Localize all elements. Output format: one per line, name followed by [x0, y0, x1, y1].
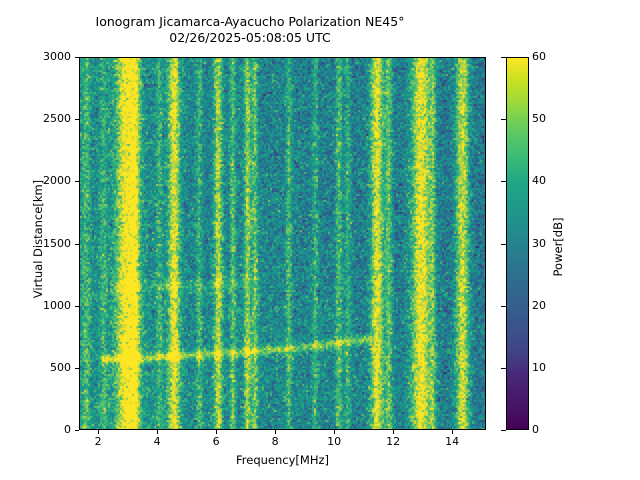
- x-tick-label: 8: [255, 435, 295, 448]
- colorbar-tick-label: 0: [532, 423, 539, 436]
- colorbar-tick-label: 10: [532, 361, 546, 374]
- ionogram-figure: Ionogram Jicamarca-Ayacucho Polarization…: [0, 0, 640, 480]
- colorbar-tick-mark: [501, 181, 506, 182]
- y-tick-mark: [75, 181, 79, 182]
- colorbar-tick-mark: [501, 244, 506, 245]
- x-tick-mark: [334, 430, 335, 434]
- x-tick-label: 12: [373, 435, 413, 448]
- y-tick-mark: [75, 430, 79, 431]
- ionogram-heatmap-canvas: [80, 58, 485, 429]
- y-tick-mark: [75, 57, 79, 58]
- colorbar-tick-label: 20: [532, 299, 546, 312]
- y-tick-mark: [75, 368, 79, 369]
- colorbar-tick-mark: [501, 57, 506, 58]
- y-tick-label: 500: [27, 361, 71, 374]
- y-axis-label: Virtual Distance[km]: [31, 119, 45, 359]
- x-tick-mark: [275, 430, 276, 434]
- x-tick-mark: [98, 430, 99, 434]
- x-tick-mark: [452, 430, 453, 434]
- x-tick-label: 2: [78, 435, 118, 448]
- colorbar-tick-mark: [501, 306, 506, 307]
- y-tick-mark: [75, 119, 79, 120]
- x-tick-mark: [393, 430, 394, 434]
- x-tick-label: 14: [432, 435, 472, 448]
- x-tick-label: 10: [314, 435, 354, 448]
- figure-title: Ionogram Jicamarca-Ayacucho Polarization…: [0, 14, 500, 46]
- colorbar-tick-mark: [501, 430, 506, 431]
- colorbar-tick-label: 50: [532, 112, 546, 125]
- colorbar-tick-label: 40: [532, 174, 546, 187]
- x-tick-label: 4: [137, 435, 177, 448]
- x-axis-label: Frequency[MHz]: [79, 453, 486, 467]
- x-tick-mark: [157, 430, 158, 434]
- colorbar-label: Power[dB]: [551, 187, 565, 307]
- y-tick-label: 3000: [27, 50, 71, 63]
- colorbar-tick-mark: [501, 119, 506, 120]
- x-tick-label: 6: [196, 435, 236, 448]
- x-tick-mark: [216, 430, 217, 434]
- y-tick-mark: [75, 244, 79, 245]
- colorbar: [506, 57, 529, 430]
- colorbar-tick-label: 30: [532, 237, 546, 250]
- y-tick-label: 0: [27, 423, 71, 436]
- colorbar-tick-label: 60: [532, 50, 546, 63]
- colorbar-tick-mark: [501, 368, 506, 369]
- ionogram-plot-area: [79, 57, 486, 430]
- y-tick-mark: [75, 306, 79, 307]
